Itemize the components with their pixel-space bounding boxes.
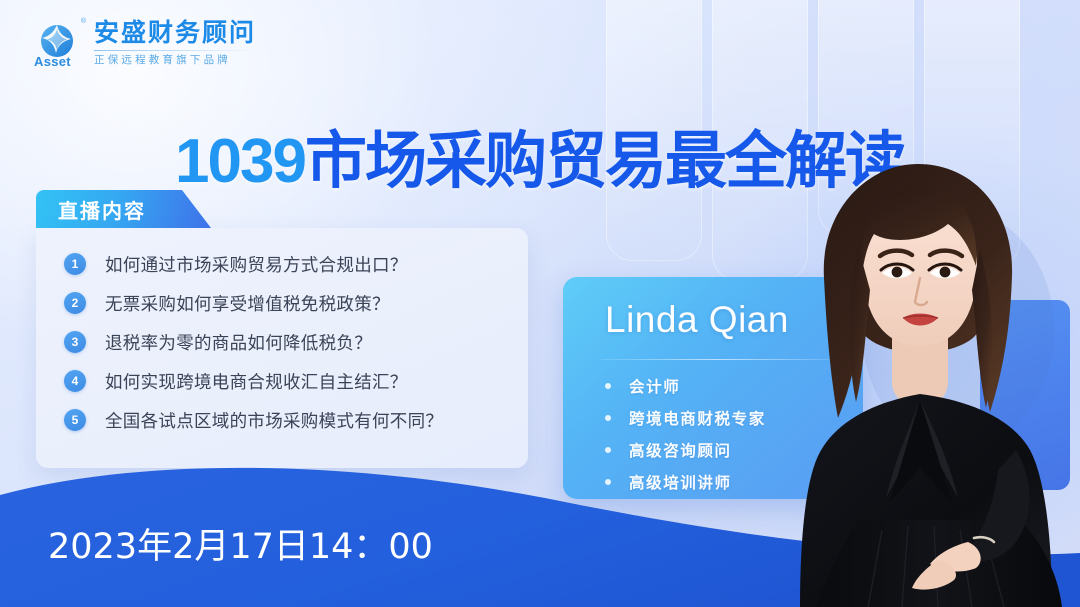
list-item: 3 退税率为零的商品如何降低税负？ — [64, 328, 514, 356]
item-label: 全国各试点区域的市场采购模式有何不同？ — [105, 408, 443, 433]
item-label: 无票采购如何享受增值税免税政策？ — [105, 291, 390, 316]
item-number-badge: 3 — [64, 331, 86, 353]
asset-swirl-logo-icon: ® Asset — [36, 20, 82, 66]
bullet-dot-icon — [605, 415, 611, 421]
topics-list: 1 如何通过市场采购贸易方式合规出口？ 2 无票采购如何享受增值税免税政策？ 3… — [64, 250, 514, 434]
brand-name-cn: 安盛财务顾问 — [94, 20, 256, 45]
bullet-dot-icon — [605, 447, 611, 453]
credential-label: 跨境电商财税专家 — [629, 407, 766, 429]
item-number-badge: 5 — [64, 409, 86, 431]
presenter-photo — [762, 150, 1080, 607]
brand-divider — [94, 50, 256, 51]
list-item: 5 全国各试点区域的市场采购模式有何不同？ — [64, 406, 514, 434]
brand-name-en: Asset — [34, 54, 71, 69]
event-datetime: 2023年2月17日14：00 — [48, 518, 433, 569]
registered-mark: ® — [81, 18, 86, 25]
item-label: 如何通过市场采购贸易方式合规出口？ — [105, 252, 408, 277]
credential-label: 会计师 — [629, 375, 680, 397]
item-label: 如何实现跨境电商合规收汇自主结汇？ — [105, 369, 408, 394]
section-tag: 直播内容 — [36, 190, 211, 228]
list-item: 2 无票采购如何享受增值税免税政策？ — [64, 289, 514, 317]
brand-text-block: 安盛财务顾问 正保远程教育旗下品牌 — [94, 20, 256, 66]
item-number-badge: 4 — [64, 370, 86, 392]
item-number-badge: 2 — [64, 292, 86, 314]
list-item: 4 如何实现跨境电商合规收汇自主结汇？ — [64, 367, 514, 395]
list-item: 跨境电商财税专家 — [605, 407, 766, 429]
brand-tagline: 正保远程教育旗下品牌 — [94, 55, 256, 66]
list-item: 会计师 — [605, 375, 766, 397]
list-item: 1 如何通过市场采购贸易方式合规出口？ — [64, 250, 514, 278]
topics-card: 1 如何通过市场采购贸易方式合规出口？ 2 无票采购如何享受增值税免税政策？ 3… — [36, 228, 528, 468]
item-label: 退税率为零的商品如何降低税负？ — [105, 330, 372, 355]
live-stream-promo-poster: ® Asset 安盛财务顾问 正保远程教育旗下品牌 1039市场采购贸易最全解读… — [0, 0, 1080, 607]
bullet-dot-icon — [605, 383, 611, 389]
brand-logo: ® Asset 安盛财务顾问 正保远程教育旗下品牌 — [36, 20, 256, 66]
item-number-badge: 1 — [64, 253, 86, 275]
title-number: 1039 — [175, 127, 305, 196]
section-tag-label: 直播内容 — [58, 195, 146, 224]
